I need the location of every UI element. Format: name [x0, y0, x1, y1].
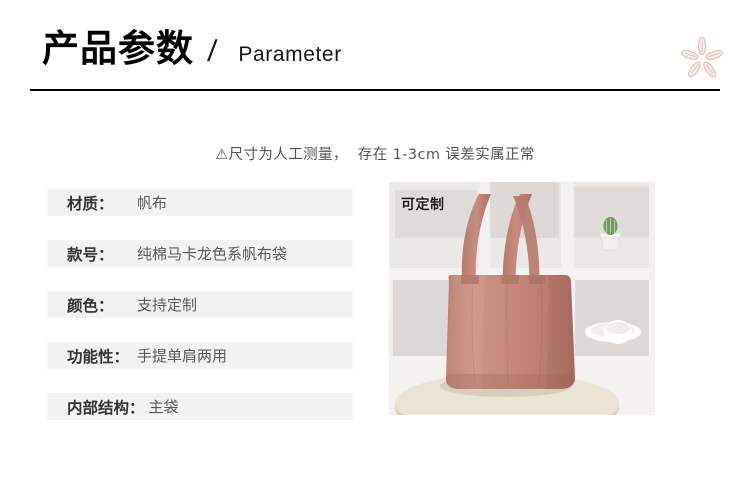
- photo-badge-customizable: 可定制: [401, 194, 445, 214]
- product-photo: 可定制: [389, 182, 655, 415]
- header-title-group: 产品参数 / Parameter: [42, 30, 342, 88]
- product-parameter-page: 产品参数 / Parameter: [0, 0, 750, 480]
- spec-label-material: 材质：: [47, 192, 133, 214]
- spec-value-color: 支持定制: [137, 294, 197, 315]
- title-separator: /: [206, 37, 217, 67]
- measurement-notice-text: 尺寸为人工测量， 存在 1-3cm 误差实属正常: [229, 147, 535, 163]
- spec-value-model: 纯棉马卡龙色系帆布袋: [137, 243, 287, 264]
- warning-triangle-icon: ⚠: [215, 147, 228, 163]
- spec-list: 材质： 帆布 款号： 纯棉马卡龙色系帆布袋 颜色： 支持定制 功能性： 手提单肩…: [47, 189, 353, 444]
- spec-value-material: 帆布: [137, 192, 167, 213]
- table-row: 款号： 纯棉马卡龙色系帆布袋: [47, 240, 353, 267]
- page-header: 产品参数 / Parameter: [30, 30, 720, 92]
- spec-value-function: 手提单肩两用: [137, 345, 227, 366]
- spec-label-function: 功能性：: [47, 345, 133, 367]
- spec-label-model: 款号：: [47, 243, 133, 265]
- spec-value-structure: 主袋: [149, 396, 179, 417]
- page-title-cn: 产品参数: [42, 30, 194, 67]
- table-row: 功能性： 手提单肩两用: [47, 342, 353, 369]
- spec-label-structure: 内部结构：: [47, 396, 145, 418]
- measurement-notice: ⚠尺寸为人工测量， 存在 1-3cm 误差实属正常: [0, 143, 750, 164]
- table-row: 材质： 帆布: [47, 189, 353, 216]
- table-row: 颜色： 支持定制: [47, 291, 353, 318]
- header-divider: [30, 89, 720, 91]
- page-title-en: Parameter: [238, 44, 341, 65]
- table-row: 内部结构： 主袋: [47, 393, 353, 420]
- flower-petals-icon: [678, 35, 726, 83]
- spec-label-color: 颜色：: [47, 294, 133, 316]
